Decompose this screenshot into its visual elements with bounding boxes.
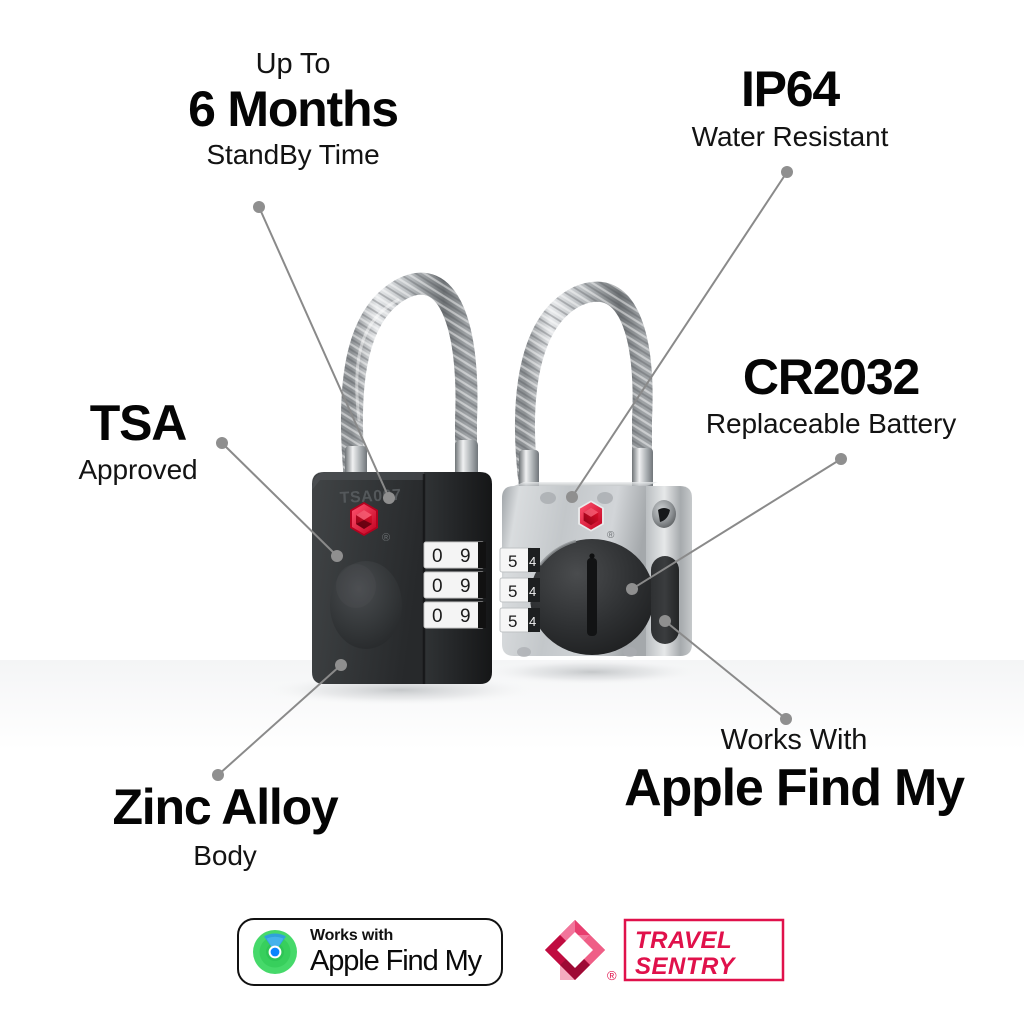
travel-sentry-registered-mark: ® (607, 968, 617, 983)
leader-dot-ip64-label (781, 166, 793, 178)
svg-text:0: 0 (432, 606, 443, 627)
silver-padlock: ® 5 4 (500, 292, 692, 657)
callout-cr2032-headline: CR2032 (665, 352, 997, 403)
leader-dot-findmy-target (659, 615, 671, 627)
svg-text:9: 9 (460, 546, 471, 567)
badge-findmy-big: Apple Find My (310, 947, 481, 976)
dial-window: 5 4 (500, 548, 540, 572)
callout-standby-headline: 6 Months (128, 84, 458, 135)
leader-dot-zinc-target (335, 659, 347, 671)
black-padlock: TSA007 ® 0 9 (312, 284, 492, 684)
dial-window: 0 9 (424, 602, 486, 628)
callout-find-my: Works With Apple Find My (588, 726, 1000, 815)
certification-badges: Works with Apple Find My ® (0, 906, 1024, 998)
callout-standby-top: Up To (128, 50, 458, 80)
leader-dot-cr2032-label (835, 453, 847, 465)
svg-text:4: 4 (529, 554, 536, 569)
svg-text:0: 0 (432, 576, 443, 597)
black-lock-cable-shackle (345, 284, 478, 494)
dial-window: 5 4 (500, 608, 540, 632)
callout-tsa: TSA Approved (22, 398, 254, 485)
svg-text:4: 4 (529, 584, 536, 599)
svg-text:5: 5 (508, 612, 517, 631)
silver-lock-cable-shackle (519, 292, 653, 494)
leader-dot-standby-target (383, 492, 395, 504)
callout-zinc-alloy: Zinc Alloy Body (60, 782, 390, 871)
svg-text:4: 4 (529, 614, 536, 629)
travel-sentry-logo: ® TRAVEL SENTRY (539, 916, 787, 988)
find-my-radar-icon (252, 929, 298, 975)
registered-mark-black: ® (382, 532, 390, 544)
svg-text:5: 5 (508, 552, 517, 571)
travel-sentry-badge[interactable]: ® TRAVEL SENTRY (539, 916, 787, 988)
black-lock-dials: 0 9 0 9 0 9 (424, 542, 486, 628)
infographic-canvas: TSA007 ® 0 9 (0, 0, 1024, 1024)
travel-sentry-line1: TRAVEL (635, 927, 732, 954)
svg-text:9: 9 (460, 606, 471, 627)
callout-tsa-headline: TSA (22, 398, 254, 449)
svg-text:0: 0 (432, 546, 443, 567)
leader-dot-ip64-target (566, 491, 578, 503)
silver-lock-dials: 5 4 5 4 5 4 (500, 548, 540, 632)
leader-dot-standby-label (253, 201, 265, 213)
callout-ip64-sub: Water Resistant (660, 123, 920, 152)
dial-window: 0 9 (424, 572, 486, 598)
works-with-apple-find-my-badge[interactable]: Works with Apple Find My (237, 918, 503, 986)
callout-findmy-top: Works With (588, 726, 1000, 756)
callout-ip64: IP64 Water Resistant (660, 64, 920, 152)
callout-standby-time: Up To 6 Months StandBy Time (128, 50, 458, 169)
travel-sentry-line2: SENTRY (635, 953, 736, 980)
callout-zinc-sub: Body (60, 842, 390, 871)
registered-mark-silver: ® (607, 530, 615, 541)
battery-compartment-cover (530, 539, 654, 655)
dial-window: 5 4 (500, 578, 540, 602)
callout-tsa-sub: Approved (22, 456, 254, 485)
callout-zinc-headline: Zinc Alloy (60, 782, 390, 833)
callout-cr2032-sub: Replaceable Battery (665, 410, 997, 439)
svg-text:9: 9 (460, 576, 471, 597)
callout-cr2032: CR2032 Replaceable Battery (665, 352, 997, 439)
dial-window: 0 9 (424, 542, 486, 568)
callout-ip64-headline: IP64 (660, 64, 920, 115)
svg-text:5: 5 (508, 582, 517, 601)
tsa-keyhole (652, 500, 676, 528)
badge-findmy-small: Works with (310, 928, 481, 944)
leader-dot-tsa-target (331, 550, 343, 562)
leader-line-ip64 (572, 172, 787, 497)
callout-findmy-headline: Apple Find My (588, 762, 1000, 815)
leader-dot-cr2032-target (626, 583, 638, 595)
callout-standby-sub: StandBy Time (128, 141, 458, 170)
